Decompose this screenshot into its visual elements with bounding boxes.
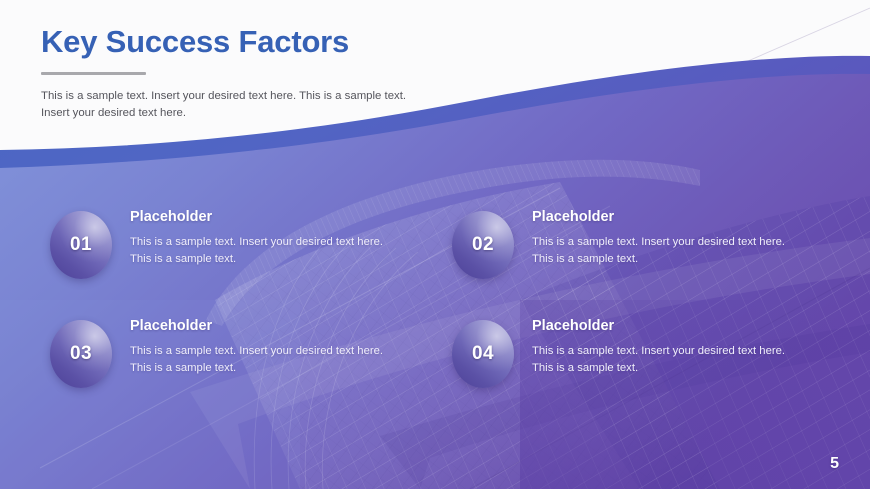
item-title: Placeholder — [532, 209, 794, 226]
list-item[interactable]: 04 Placeholder This is a sample text. In… — [452, 316, 802, 388]
presentation-slide: Key Success Factors This is a sample tex… — [0, 0, 870, 489]
badge-number: 04 — [452, 320, 514, 388]
item-text-block: Placeholder This is a sample text. Inser… — [532, 207, 794, 268]
item-body: This is a sample text. Insert your desir… — [532, 343, 794, 377]
page-number: 5 — [830, 455, 839, 473]
factors-list: 01 Placeholder This is a sample text. In… — [0, 0, 870, 489]
item-body: This is a sample text. Insert your desir… — [532, 234, 794, 268]
item-text-block: Placeholder This is a sample text. Inser… — [130, 316, 392, 377]
number-badge: 03 — [50, 320, 112, 388]
item-text-block: Placeholder This is a sample text. Inser… — [130, 207, 392, 268]
number-badge: 02 — [452, 211, 514, 279]
list-item[interactable]: 02 Placeholder This is a sample text. In… — [452, 207, 802, 279]
number-badge: 01 — [50, 211, 112, 279]
item-title: Placeholder — [532, 318, 794, 335]
item-body: This is a sample text. Insert your desir… — [130, 343, 392, 377]
list-item[interactable]: 03 Placeholder This is a sample text. In… — [50, 316, 400, 388]
badge-number: 03 — [50, 320, 112, 388]
item-title: Placeholder — [130, 318, 392, 335]
badge-number: 02 — [452, 211, 514, 279]
number-badge: 04 — [452, 320, 514, 388]
item-text-block: Placeholder This is a sample text. Inser… — [532, 316, 794, 377]
item-title: Placeholder — [130, 209, 392, 226]
item-body: This is a sample text. Insert your desir… — [130, 234, 392, 268]
list-item[interactable]: 01 Placeholder This is a sample text. In… — [50, 207, 400, 279]
badge-number: 01 — [50, 211, 112, 279]
